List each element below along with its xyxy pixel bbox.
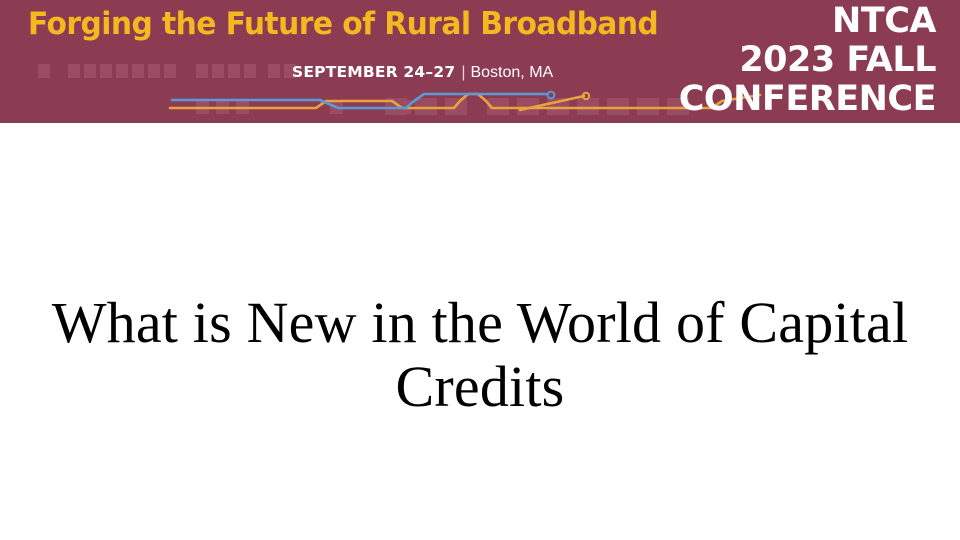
blue-endpoint-marker: [548, 92, 555, 99]
conference-banner: Forging the Future of Rural Broadband SE…: [0, 0, 960, 123]
slide: Forging the Future of Rural Broadband SE…: [0, 0, 960, 540]
slide-title: What is New in the World of Capital Cred…: [48, 291, 912, 419]
ntca-logo-line-2: 2023 FALL: [679, 41, 936, 80]
ntca-logo-line-3: CONFERENCE: [679, 80, 936, 119]
ntca-logo-line-1: NTCA: [679, 2, 936, 41]
ntca-logo-lockup: NTCA 2023 FALL CONFERENCE: [679, 2, 936, 119]
